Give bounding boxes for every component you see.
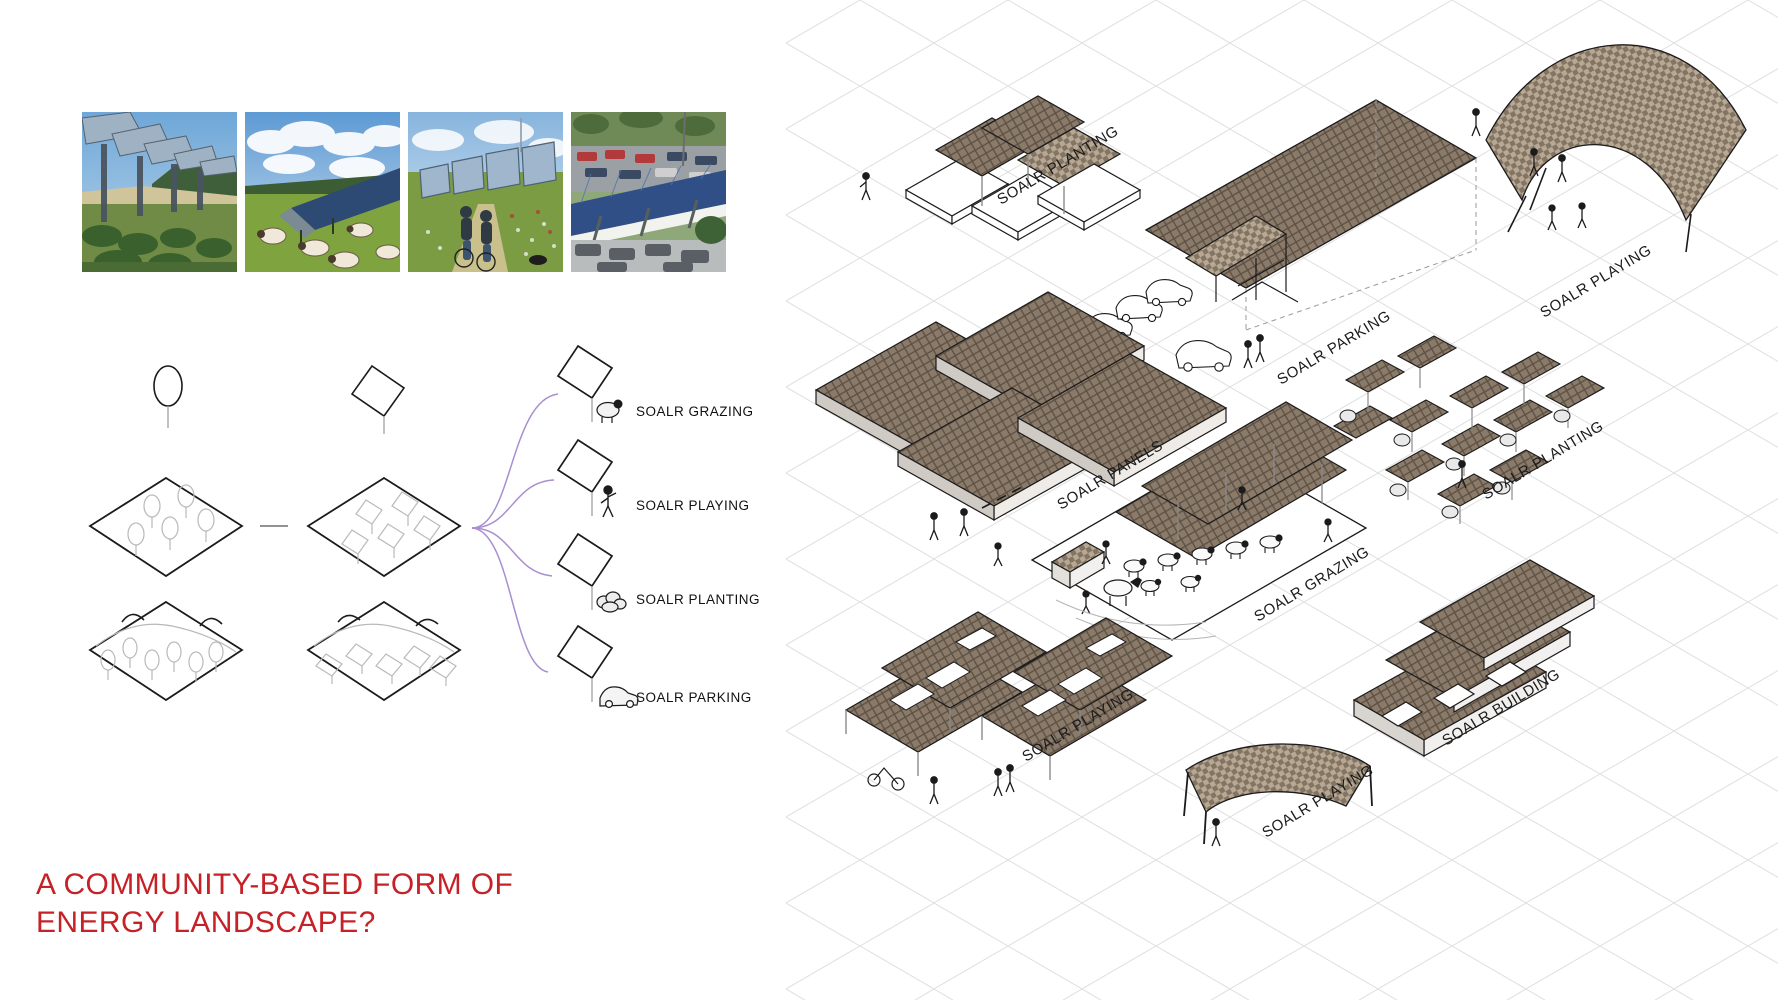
- photo-cyclists-on-solar-meadow-path: [408, 112, 563, 272]
- photo-strip: [82, 112, 726, 272]
- branch-label-parking: SOALR PARKING: [636, 690, 752, 705]
- branch-connectors: [472, 394, 558, 672]
- axonometric-panel: SOALR PLANTING: [786, 0, 1778, 1000]
- shrub-icon: [597, 592, 626, 612]
- field-trees-plan: [90, 478, 242, 576]
- page-title: A COMMUNITY-BASED FORM OF ENERGY LANDSCA…: [36, 866, 736, 943]
- photo-sheep-grazing-under-panels: [245, 112, 400, 272]
- sheep-icon: [597, 400, 623, 424]
- branch-label-planting: SOALR PLANTING: [636, 592, 760, 607]
- field-trees-section: [90, 602, 242, 700]
- page-title-line-1: A COMMUNITY-BASED FORM OF: [36, 866, 736, 904]
- branch-grazing: SOALR GRAZING: [558, 346, 754, 423]
- branch-label-playing: SOALR PLAYING: [636, 498, 750, 513]
- field-panels-section: [308, 602, 460, 700]
- presentation-board: SOALR GRAZING SOALR PLAYING: [0, 0, 1778, 1000]
- tree-icon: [154, 366, 182, 406]
- page-title-line-2: ENERGY LANDSCAPE?: [36, 904, 736, 942]
- panel-icon: [352, 366, 404, 416]
- branch-planting: SOALR PLANTING: [558, 534, 760, 612]
- branch-parking: SOALR PARKING: [558, 626, 752, 707]
- field-panels-plan: [308, 478, 460, 576]
- car-icon: [600, 687, 638, 708]
- photo-agrivoltaic-vegetable-rows: [82, 112, 237, 272]
- branch-label-grazing: SOALR GRAZING: [636, 404, 754, 419]
- concept-diagram: SOALR GRAZING SOALR PLAYING: [0, 330, 786, 760]
- branch-playing: SOALR PLAYING: [558, 440, 750, 517]
- person-icon: [601, 486, 616, 517]
- photo-solar-carport-parking: [571, 112, 726, 272]
- left-panel: SOALR GRAZING SOALR PLAYING: [0, 0, 786, 1000]
